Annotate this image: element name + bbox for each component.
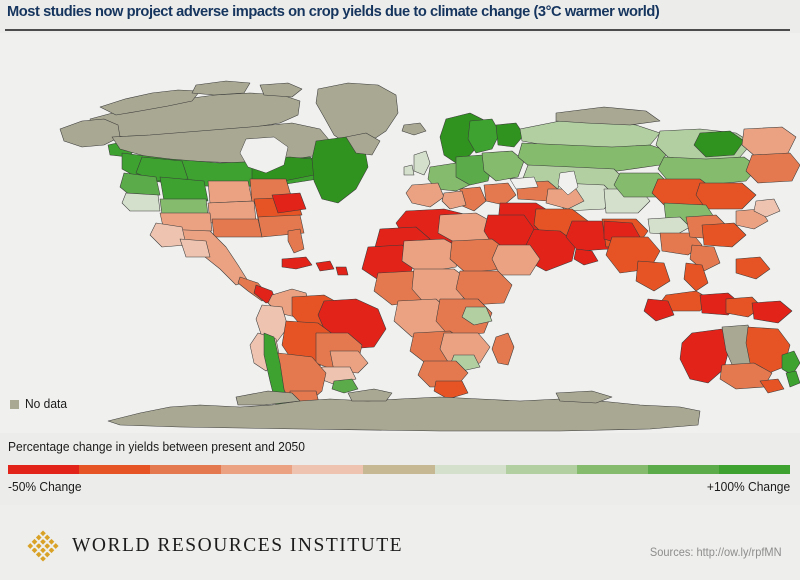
infographic-figure: Most studies now project adverse impacts… [0, 0, 800, 580]
wri-brand: WORLD RESOURCES INSTITUTE [26, 529, 403, 563]
legend-band-10 [719, 465, 790, 474]
legend-band-7 [506, 465, 577, 474]
legend-band-2 [150, 465, 221, 474]
no-data-swatch [10, 400, 19, 409]
color-legend: Percentage change in yields between pres… [0, 440, 800, 500]
world-map-panel: .ln{stroke:#3a3a3a;stroke-width:0.55;str… [0, 33, 800, 433]
legend-band-6 [435, 465, 506, 474]
choropleth-map: .ln{stroke:#3a3a3a;stroke-width:0.55;str… [0, 33, 800, 433]
page-title: Most studies now project adverse impacts… [7, 3, 659, 20]
footer: WORLD RESOURCES INSTITUTE Sources: http:… [0, 505, 800, 580]
legend-band-8 [577, 465, 648, 474]
wri-diamond-lattice-logo-icon [26, 529, 60, 563]
legend-max-label: +100% Change [707, 480, 790, 494]
organization-name: WORLD RESOURCES INSTITUTE [72, 535, 403, 557]
legend-color-bar [8, 465, 790, 474]
legend-caption: Percentage change in yields between pres… [8, 440, 305, 454]
legend-band-4 [292, 465, 363, 474]
legend-band-5 [363, 465, 434, 474]
legend-band-3 [221, 465, 292, 474]
title-divider [5, 29, 790, 31]
title-bar: Most studies now project adverse impacts… [0, 0, 800, 28]
legend-band-1 [79, 465, 150, 474]
legend-band-0 [8, 465, 79, 474]
legend-min-label: -50% Change [8, 480, 82, 494]
legend-band-9 [648, 465, 719, 474]
sources-text[interactable]: Sources: http://ow.ly/rpfMN [650, 546, 782, 559]
no-data-legend: No data [10, 396, 69, 412]
no-data-label: No data [25, 397, 67, 411]
